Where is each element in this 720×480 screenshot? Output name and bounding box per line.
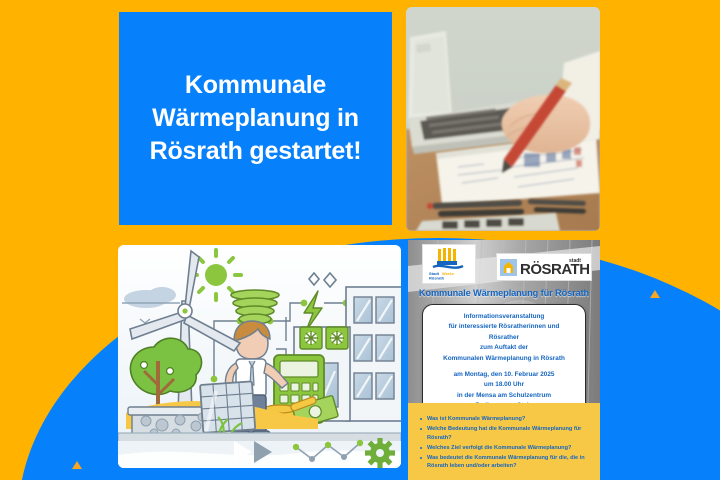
headline-panel: Kommunale Wärmeplanung in Rösrath gestar… [119,12,392,225]
poster-card-line: um 18.00 Uhr [429,380,579,390]
page-title: Kommunale Wärmeplanung in Rösrath gestar… [119,69,392,168]
poster-card-line: zum Auftakt der [429,343,579,353]
list-item: Was bedeutet die Kommunale Wärmeplanung … [427,454,593,471]
svg-text:stadt: stadt [569,258,581,264]
desk-photo-image [406,7,600,231]
list-item: Welche Bedeutung hat die Kommunale Wärme… [427,425,593,442]
list-item: Welches Ziel verfolgt die Kommunale Wärm… [427,444,593,453]
poster-card-line: Informationsveranstaltung [429,312,579,322]
green-energy-illustration [118,245,401,468]
collage-canvas: Kommunale Wärmeplanung in Rösrath gestar… [0,0,720,480]
green-energy-illustration-panel [118,245,401,468]
poster-title: Kommunale Wärmeplanung für Rösrath [408,288,600,298]
decorative-triangle-right-icon [650,290,660,298]
stadt-roesrath-logo: RÖSRATH stadt [496,253,592,281]
poster-logos: Stadt Werke Rösrath RÖSRATH stadt [408,240,600,287]
poster-card-line: am Montag, den 10. Februar 2025 [429,370,579,380]
gear-icon [365,438,395,468]
solar-panel-icon [200,381,255,433]
desk-photo-panel [406,7,600,231]
poster-card-line: in der Mensa am Schulzentrum [429,391,579,401]
event-poster-panel: Stadt Werke Rösrath RÖSRATH stadt [408,240,600,480]
poster-card-line: für interessierte Rösratherinnen und [429,322,579,332]
poster-card-line: Kommunalen Wärmeplanung in Rösrath [429,354,579,364]
stadtwerke-roesrath-logo: Stadt Werke Rösrath [422,244,476,284]
poster-question-list: Was ist Kommunale Wärmeplanung? Welche B… [417,415,593,472]
list-item: Was ist Kommunale Wärmeplanung? [427,415,593,424]
decorative-triangle-icon [72,461,82,469]
poster-card-line: Rösrather [429,333,579,343]
tall-building [346,287,401,421]
svg-text:Rösrath: Rösrath [429,276,445,281]
